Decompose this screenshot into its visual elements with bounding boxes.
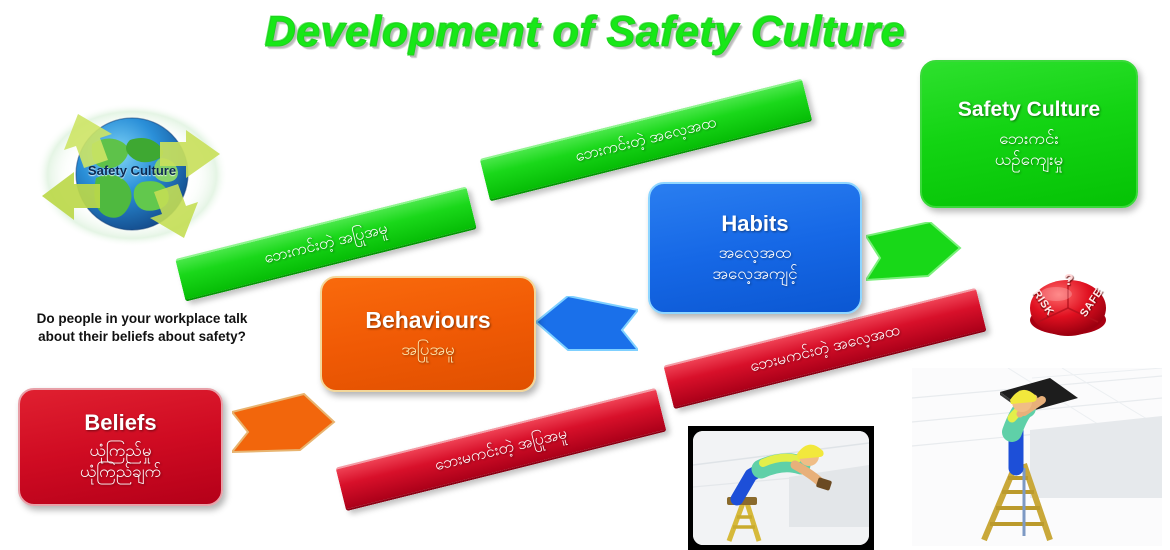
box-behaviours-title: Behaviours <box>365 308 490 334</box>
worker-on-stepladder-fitting-ceiling-panel-icon <box>912 368 1162 546</box>
banner-safe-habits-text: ဘေးကင်းတဲ့ အလေ့အထ <box>573 111 719 169</box>
page-title: Development of Safety Culture <box>0 8 1170 57</box>
box-beliefs[interactable]: Beliefs ယုံကြည်မှု ယုံကြည်ချက် <box>18 388 223 506</box>
box-behaviours[interactable]: Behaviours အပြုအမူ <box>320 276 536 392</box>
box-habits-title: Habits <box>721 212 788 237</box>
box-habits-mm: အလေ့အထ အလေ့အကျင့် <box>712 242 797 285</box>
banner-unsafe-habits-text: ဘေးမကင်းတဲ့ အလေ့အထ <box>747 318 902 379</box>
box-beliefs-title: Beliefs <box>84 411 156 436</box>
box-safety-culture-mm: ဘေးကင်း ယဉ်ကျေးမှု <box>995 128 1064 171</box>
chevron-right-icon <box>232 392 336 456</box>
globe-cycle-icon: Safety Culture <box>34 100 230 250</box>
photo-safe-worker <box>912 368 1162 546</box>
box-safety-culture[interactable]: Safety Culture ဘေးကင်း ယဉ်ကျေးမှု <box>920 60 1138 208</box>
arrow-habits-to-behaviours <box>534 296 638 363</box>
box-safety-culture-title: Safety Culture <box>958 98 1100 122</box>
banner-unsafe-behaviour: ဘေးမကင်းတဲ့ အပြုအမူ <box>335 388 666 511</box>
chevron-left-icon <box>534 296 638 358</box>
photo-unsafe-worker <box>688 426 874 550</box>
banner-unsafe-behaviour-text: ဘေးမကင်းတဲ့ အပြုအမူ <box>432 421 569 477</box>
box-habits[interactable]: Habits အလေ့အထ အလေ့အကျင့် <box>648 182 862 314</box>
arrow-habits-to-safety-culture <box>866 222 962 289</box>
box-behaviours-mm: အပြုအမူ <box>401 339 454 360</box>
dome-question-mark: ? <box>1064 272 1074 290</box>
chevron-right-icon <box>866 222 962 284</box>
photo-safe-worker-inner <box>912 368 1162 546</box>
infographic-canvas: Development of Safety Culture <box>0 0 1170 550</box>
arrow-beliefs-to-behaviours <box>232 392 336 461</box>
worker-overreaching-on-stepladder-icon <box>693 431 869 545</box>
risk-safe-dome-icon[interactable]: ? RISK SAFE <box>1022 264 1114 342</box>
box-beliefs-mm: ယုံကြည်မှု ယုံကြည်ချက် <box>80 440 161 483</box>
banner-safe-behaviour-text: ဘေးကင်းတဲ့ အပြုအမူ <box>262 217 391 271</box>
question-text: Do people in your workplace talk about t… <box>34 310 250 346</box>
photo-unsafe-worker-inner <box>693 431 869 545</box>
globe-svg <box>34 100 230 250</box>
